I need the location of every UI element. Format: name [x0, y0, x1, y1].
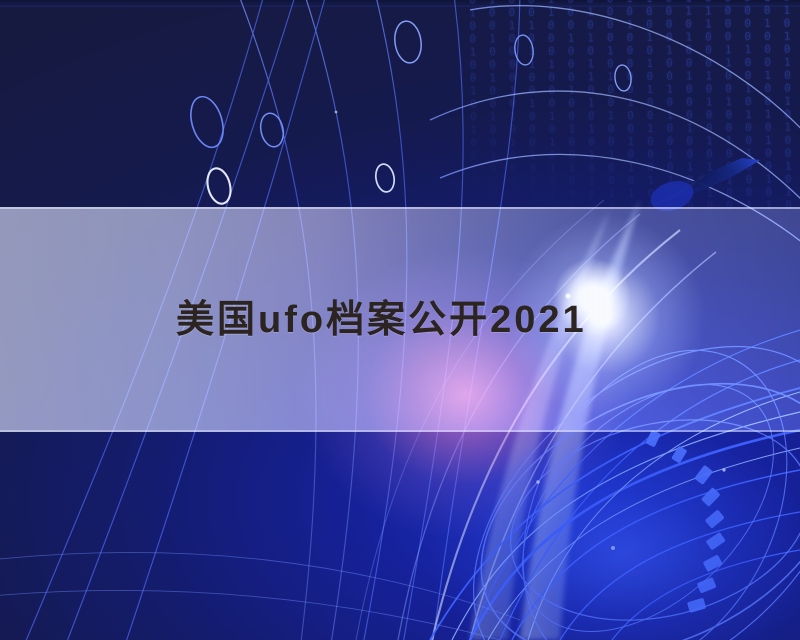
caption-band: 美国ufo档案公开2021: [0, 207, 800, 432]
ufo-archive-banner: 0 1 0 0 1 0 0 0 1 1 0 1 0 0 0 1 0 0 1 0 …: [0, 0, 800, 640]
page-title: 美国ufo档案公开2021: [0, 301, 587, 339]
